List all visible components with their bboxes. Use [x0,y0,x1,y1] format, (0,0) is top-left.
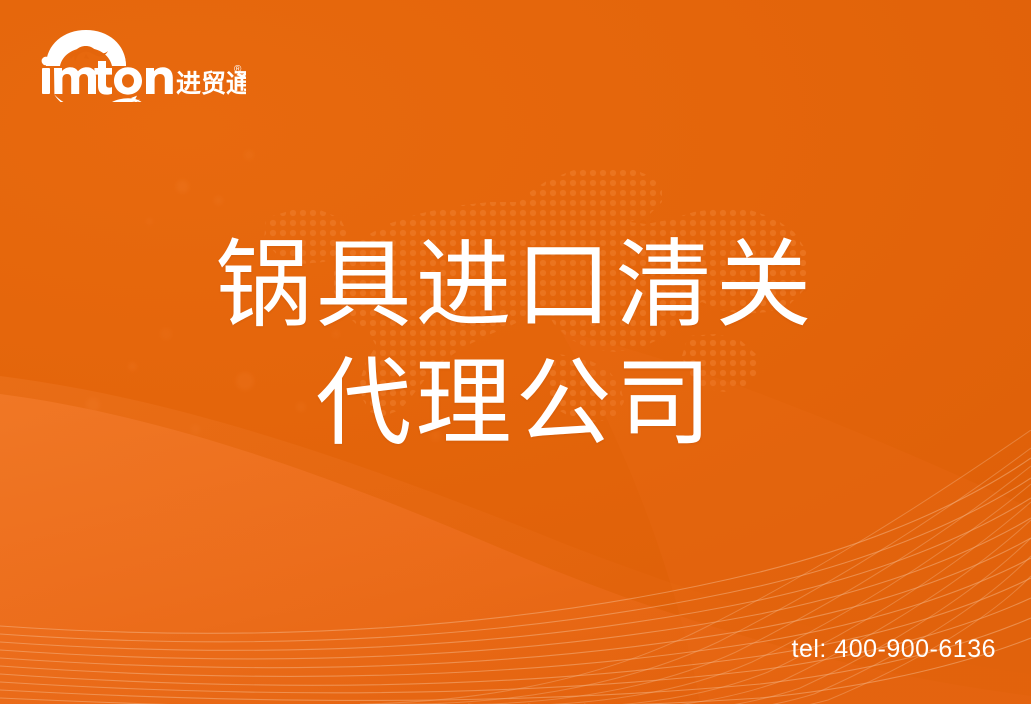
page-title: 锅具进口清关 代理公司 [0,226,1031,462]
company-logo[interactable]: 进贸通 ® [36,28,246,102]
dragon-swoosh-icon [54,94,142,102]
promo-banner: 进贸通 ® 锅具进口清关 代理公司 tel: 400-900-6136 [0,0,1031,704]
headline-line-2: 代理公司 [0,344,1031,462]
wordmark-chinese: 进贸通 ® [176,64,246,98]
contact-telephone[interactable]: tel: 400-900-6136 [792,634,996,664]
trademark-symbol: ® [234,64,242,75]
headline-line-1: 锅具进口清关 [0,226,1031,344]
wordmark-latin [42,57,173,95]
